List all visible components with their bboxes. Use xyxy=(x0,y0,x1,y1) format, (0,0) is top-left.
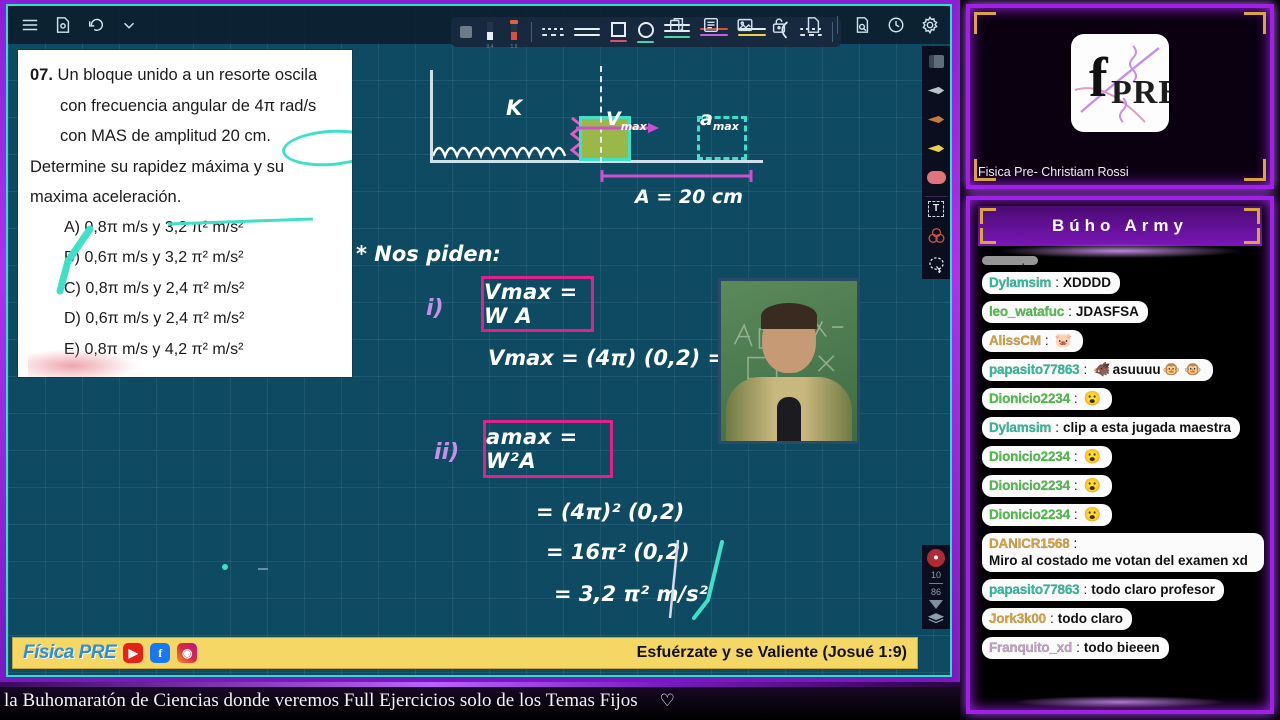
list-icon[interactable] xyxy=(701,15,721,35)
formula-box-amax: amax = W²A xyxy=(483,420,613,478)
chat-corner-tr xyxy=(1244,208,1260,224)
question-line-2: con frecuencia angular de 4π rad/s xyxy=(30,91,352,122)
label-step-ii: ii) xyxy=(434,440,459,465)
label-step-i: i) xyxy=(426,296,444,321)
chat-colon: : xyxy=(1074,477,1078,494)
chat-bubble: Dionicio2234:😮 xyxy=(982,388,1112,410)
document-icon[interactable] xyxy=(53,15,73,35)
chat-corner-br xyxy=(1244,228,1260,244)
chat-bubble: Dylamsim:clip a esta jugada maestra xyxy=(982,417,1240,439)
chat-emoji: 😮 xyxy=(1084,477,1101,494)
annotation-check-answer-a xyxy=(54,225,94,297)
chat-bubble: : xyxy=(982,256,1038,265)
swatch-solid[interactable] xyxy=(574,28,600,36)
chat-colon: : xyxy=(1083,581,1087,598)
page-navigation[interactable]: ⏺ 10 86 xyxy=(922,545,950,629)
chat-username[interactable]: leo_watafuc xyxy=(989,303,1064,320)
chat-username[interactable] xyxy=(989,258,1017,265)
chat-username[interactable]: Dionicio2234 xyxy=(989,448,1070,465)
tool-pen-orange-icon[interactable] xyxy=(925,109,947,129)
tool-lasso-icon[interactable] xyxy=(925,254,947,274)
annotation-tick-mark xyxy=(666,540,684,620)
chat-username[interactable]: Dionicio2234 xyxy=(989,506,1070,523)
caption-bar: la Buhomaratón de Ciencias donde veremos… xyxy=(0,682,960,720)
chat-message: leo_watafuc:JDASFSA xyxy=(976,301,1264,330)
question-body: 07. Un bloque unido a un resorte oscila … xyxy=(18,50,352,365)
chat-text: XDDDD xyxy=(1063,274,1111,291)
tool-eraser-slot[interactable] xyxy=(459,20,473,44)
chat-title: Búho Army xyxy=(1052,216,1188,236)
channel-logo: f PRE xyxy=(1071,34,1169,132)
caption-text: la Buhomaratón de Ciencias donde veremos… xyxy=(0,690,638,712)
swatch-rectangle[interactable] xyxy=(610,22,627,42)
chat-colon: : xyxy=(1074,390,1078,407)
annotation-pink-smudge xyxy=(28,349,138,377)
chat-colon: : xyxy=(1083,361,1087,378)
heart-icon: ♡ xyxy=(660,691,675,711)
chat-message: Dylamsim:XDDDD xyxy=(976,272,1264,301)
diagram-spring xyxy=(433,130,583,164)
chat-message: Dylamsim:clip a esta jugada maestra xyxy=(976,417,1264,446)
work-amax-1: = (4π)² (0,2) xyxy=(536,500,684,524)
diagram-amplitude-bar xyxy=(600,170,753,182)
chat-message: DANICR1568:Miro al costado me votan del … xyxy=(976,533,1264,579)
chat-colon: : xyxy=(1076,639,1080,656)
label-nos-piden: * Nos piden: xyxy=(356,242,501,266)
toolbar-right-group xyxy=(667,15,940,35)
channel-logo-panel: f PRE Fisica Pre- Christiam Rossi xyxy=(966,4,1274,189)
tool-highlighter-yellow-icon[interactable] xyxy=(925,138,947,158)
chat-username[interactable]: Franquito_xd xyxy=(989,639,1072,656)
chat-bubble: leo_watafuc:JDASFSA xyxy=(982,301,1148,323)
facebook-icon[interactable]: f xyxy=(150,643,170,663)
chat-bubble: papasito77863:todo claro profesor xyxy=(982,579,1224,601)
chat-message: Jork3k00:todo claro xyxy=(976,608,1264,637)
option-d[interactable]: D) 0,6π m/s y 2,4 π² m/s² xyxy=(30,304,352,335)
toolbar-divider-3 xyxy=(837,16,838,34)
chat-corner-bl xyxy=(980,228,996,244)
corner-ornament-br xyxy=(1244,159,1266,181)
annotation-check-final xyxy=(688,540,728,622)
chat-username[interactable]: Jork3k00 xyxy=(989,610,1046,627)
chat-bottom-glow xyxy=(1015,696,1225,708)
chat-emoji: 😮 xyxy=(1084,506,1101,523)
chat-message: : xyxy=(976,252,1264,272)
chat-bubble: Dionicio2234:😮 xyxy=(982,475,1112,497)
chat-colon: : xyxy=(1045,332,1049,349)
layers-icon[interactable] xyxy=(927,612,945,625)
tool-pen-red-size: 1.6 xyxy=(507,44,521,50)
page-icon[interactable] xyxy=(803,15,823,35)
corner-ornament-tr xyxy=(1244,12,1266,34)
question-line-4: Determine su rapidez máxima y su xyxy=(30,152,352,183)
question-text-1: Un bloque unido a un resorte oscila xyxy=(58,66,318,84)
chat-bubble: Franquito_xd:todo bieeen xyxy=(982,637,1169,659)
tool-shapes-icon[interactable] xyxy=(925,225,947,245)
right-sidebar: f PRE Fisica Pre- Christiam Rossi Búho A… xyxy=(960,0,1280,720)
app-toolbar[interactable]: 0.4 1.6 xyxy=(8,6,950,44)
tool-pen-white-size: 0.4 xyxy=(483,44,497,50)
chat-username[interactable]: Dionicio2234 xyxy=(989,477,1070,494)
tool-marker-pink-icon[interactable] xyxy=(925,167,947,187)
chat-message: Dionicio2234:😮 xyxy=(976,475,1264,504)
canvas-dot-1 xyxy=(222,564,228,570)
menu-icon[interactable] xyxy=(20,15,40,35)
chat-message-list[interactable]: :Dylamsim:XDDDDleo_watafuc:JDASFSAAlissC… xyxy=(976,250,1264,696)
chat-emoji: 🐗 xyxy=(1093,361,1110,378)
logo-text-pre: PRE xyxy=(1111,74,1169,112)
lock-icon[interactable] xyxy=(769,15,789,35)
chat-bubble: Dionicio2234:😮 xyxy=(982,446,1112,468)
option-b-text: 0,6π m/s y 3,2 π² m/s² xyxy=(84,249,243,266)
whiteboard-app: 07. Un bloque unido a un resorte oscila … xyxy=(6,4,952,677)
chat-colon: : xyxy=(1074,535,1078,552)
question-number: 07. xyxy=(30,66,53,84)
chat-corner-tl xyxy=(980,208,996,224)
toolbar-left-group xyxy=(8,15,139,35)
banner-verse: Esfuérzate y se Valiente (Josué 1:9) xyxy=(637,644,907,662)
bottom-banner: Física PRE ▶ f ◉ Esfuérzate y se Valient… xyxy=(12,637,918,669)
chat-emoji: 🐷 xyxy=(1055,332,1072,349)
diagram-center-dashed-line xyxy=(600,66,602,163)
chat-text: todo claro xyxy=(1058,610,1123,627)
chat-username[interactable]: papasito77863 xyxy=(989,361,1079,378)
chat-bubble: AlissCM:🐷 xyxy=(982,330,1083,352)
instructor-webcam-overlay[interactable] xyxy=(718,278,860,444)
chat-message: papasito77863:todo claro profesor xyxy=(976,579,1264,608)
chat-panel[interactable]: Búho Army :Dylamsim:XDDDDleo_watafuc:JDA… xyxy=(966,196,1274,714)
chat-colon: : xyxy=(1074,506,1078,523)
caption-top-glow xyxy=(0,682,960,687)
tool-pen-white-slot[interactable]: 0.4 xyxy=(483,20,497,44)
instagram-icon[interactable]: ◉ xyxy=(177,643,197,663)
question-line-5: maxima aceleración. xyxy=(30,182,352,213)
chat-text: asuuuu xyxy=(1113,361,1161,378)
option-d-key: D) xyxy=(64,310,81,327)
canvas-dot-2 xyxy=(258,568,268,570)
chat-username[interactable]: Dylamsim xyxy=(989,419,1051,436)
corner-ornament-tl xyxy=(974,12,996,34)
chat-colon: : xyxy=(1074,448,1078,465)
label-spring-constant: K xyxy=(506,96,522,120)
chat-bubble: Dionicio2234:😮 xyxy=(982,504,1112,526)
label-amax: amax xyxy=(700,108,739,133)
swatch-dotted[interactable] xyxy=(542,28,564,36)
chat-text: Miro al costado me votan del examen xd xyxy=(989,552,1248,569)
chat-message: Dionicio2234:😮 xyxy=(976,504,1264,533)
chat-colon: : xyxy=(1055,419,1059,436)
question-line-1: 07. Un bloque unido a un resorte oscila xyxy=(30,60,352,91)
option-d-text: 0,6π m/s y 2,4 π² m/s² xyxy=(85,310,244,327)
tool-text-icon[interactable]: T xyxy=(925,196,947,216)
chat-message: AlissCM:🐷 xyxy=(976,330,1264,359)
question-card[interactable]: 07. Un bloque unido a un resorte oscila … xyxy=(18,50,352,377)
chat-username[interactable]: papasito77863 xyxy=(989,581,1079,598)
page-current: 10 xyxy=(931,570,941,580)
chat-message: Dionicio2234:😮 xyxy=(976,446,1264,475)
toolbar-divider-1 xyxy=(531,22,532,42)
page-total: 86 xyxy=(931,587,941,597)
webcam-microphone xyxy=(777,397,801,441)
triangle-down-icon[interactable] xyxy=(929,600,943,609)
tool-pen-grey-icon[interactable] xyxy=(925,80,947,100)
formula-box-vmax: Vmax = W A xyxy=(481,276,594,332)
chat-bubble: Jork3k00:todo claro xyxy=(982,608,1132,630)
record-indicator-icon[interactable]: ⏺ xyxy=(927,549,945,567)
chat-emoji: 🐵 xyxy=(1163,361,1180,378)
stream-video-frame: 07. Un bloque unido a un resorte oscila … xyxy=(0,0,960,682)
chat-username[interactable]: Dylamsim xyxy=(989,274,1051,291)
tool-eraser-icon[interactable] xyxy=(925,51,947,71)
chat-colon: : xyxy=(1068,303,1072,320)
question-line-3: con MAS de amplitud 20 cm. xyxy=(30,121,352,152)
chat-header: Búho Army xyxy=(978,206,1262,246)
chat-bubble: DANICR1568:Miro al costado me votan del … xyxy=(982,533,1264,572)
label-vmax: Vmax xyxy=(606,108,647,133)
chat-text: todo claro profesor xyxy=(1091,581,1215,598)
clock-icon[interactable] xyxy=(886,15,906,35)
undo-icon[interactable] xyxy=(86,15,106,35)
search-doc-icon[interactable] xyxy=(852,15,872,35)
chat-text: todo bieeen xyxy=(1084,639,1160,656)
chat-emoji: 🐵 xyxy=(1184,361,1201,378)
chat-username[interactable]: AlissCM xyxy=(989,332,1041,349)
image-icon[interactable] xyxy=(735,15,755,35)
screen-root: 07. Un bloque unido a un resorte oscila … xyxy=(0,0,1280,720)
side-tool-palette[interactable]: T xyxy=(922,46,950,279)
logo-letter-f: f xyxy=(1089,50,1108,106)
swatch-circle[interactable] xyxy=(637,22,654,43)
tool-pen-red-slot[interactable]: 1.6 xyxy=(507,20,521,44)
copy-icon[interactable] xyxy=(667,15,687,35)
option-c-text: 0,8π m/s y 2,4 π² m/s² xyxy=(85,280,244,297)
chat-colon: : xyxy=(1055,274,1059,291)
label-amplitude: A = 20 cm xyxy=(635,186,743,208)
chat-message: papasito77863:🐗 asuuuu 🐵🐵 xyxy=(976,359,1264,388)
chat-message: Franquito_xd:todo bieeen xyxy=(976,637,1264,666)
gear-icon[interactable] xyxy=(920,15,940,35)
chat-text: clip a esta jugada maestra xyxy=(1063,419,1231,436)
chat-text: JDASFSA xyxy=(1076,303,1139,320)
chat-colon: : xyxy=(1050,610,1054,627)
channel-name: Fisica Pre- Christiam Rossi xyxy=(978,165,1129,179)
banner-brand: Física PRE xyxy=(23,642,116,664)
chat-username[interactable]: Dionicio2234 xyxy=(989,390,1070,407)
chat-message: Dionicio2234:😮 xyxy=(976,388,1264,417)
work-amax-3: = 3,2 π² m/s² xyxy=(554,582,708,606)
chat-bubble: Dylamsim:XDDDD xyxy=(982,272,1120,294)
webcam-instructor-hair xyxy=(761,303,817,329)
chat-emoji: 😮 xyxy=(1084,390,1101,407)
chevron-down-icon[interactable] xyxy=(119,15,139,35)
chat-username[interactable]: DANICR1568 xyxy=(989,535,1070,552)
chat-emoji: 😮 xyxy=(1084,448,1101,465)
chat-colon: : xyxy=(1021,258,1025,265)
youtube-icon[interactable]: ▶ xyxy=(123,643,143,663)
chat-bubble: papasito77863:🐗 asuuuu 🐵🐵 xyxy=(982,359,1213,381)
